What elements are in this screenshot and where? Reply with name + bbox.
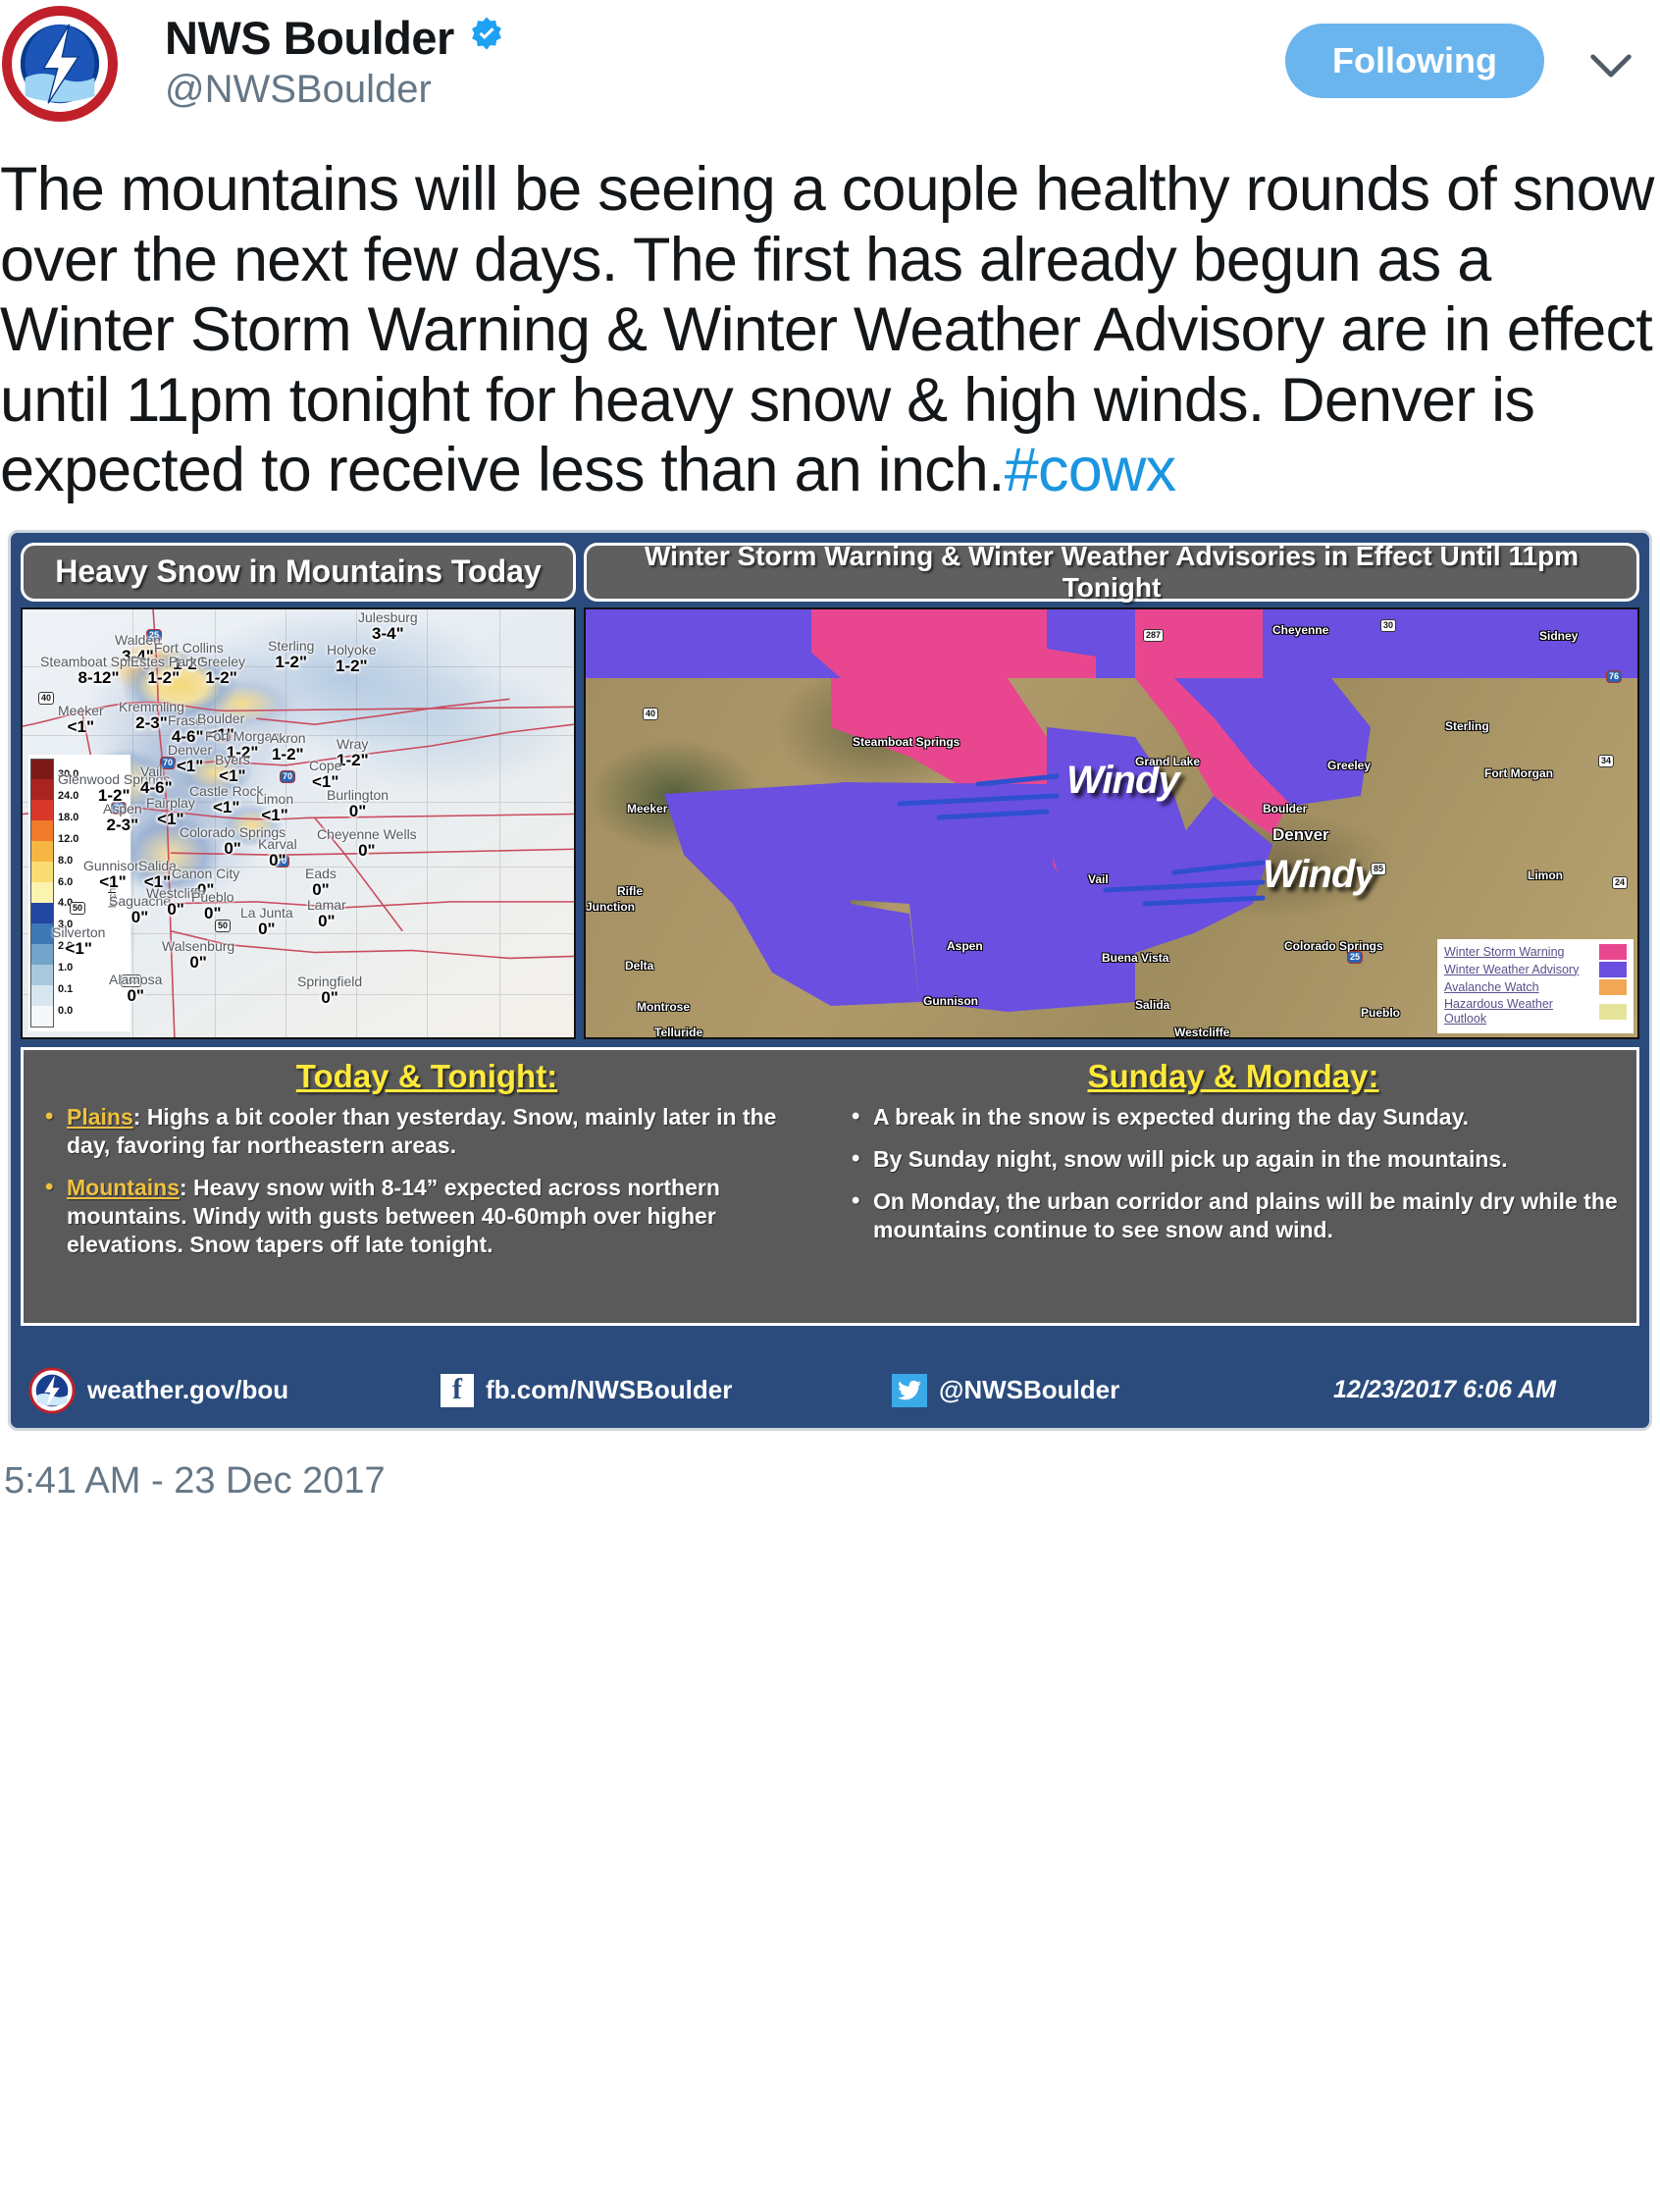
snow-city-limon: Limon <1" bbox=[256, 792, 293, 824]
warn-city-junction: Junction bbox=[586, 900, 635, 914]
warn-city-sidney: Sidney bbox=[1539, 629, 1578, 643]
snow-forecast-map[interactable]: 30.0 24.0 18.0 12.0 8.0 6.0 4.0 3.0 2.0 … bbox=[21, 607, 576, 1039]
colorbar-tick: 0.1 bbox=[58, 983, 73, 995]
snow-city-estes-park: Estes Park 1-2" bbox=[130, 655, 197, 687]
snow-city-springfield: Springfield 0" bbox=[297, 974, 362, 1007]
warn-city-grand-lake: Grand Lake bbox=[1135, 755, 1200, 768]
warn-city-gunnison: Gunnison bbox=[923, 994, 978, 1008]
footer-twitter-label: @NWSBoulder bbox=[939, 1375, 1119, 1405]
warn-city-denver: Denver bbox=[1272, 825, 1329, 845]
display-name: NWS Boulder bbox=[165, 14, 454, 64]
warn-city-pueblo: Pueblo bbox=[1361, 1006, 1400, 1020]
footer-facebook[interactable]: f fb.com/NWSBoulder bbox=[441, 1374, 892, 1407]
snow-city-eads: Eads 0" bbox=[305, 867, 337, 899]
bullet-lead: Plains bbox=[67, 1104, 133, 1130]
snow-city-silverton: Silverton <1" bbox=[52, 925, 105, 958]
snow-city-akron: Akron 1-2" bbox=[270, 731, 306, 764]
legend-row: Hazardous Weather Outlook bbox=[1444, 997, 1627, 1027]
colorbar-tick: 12.0 bbox=[58, 833, 78, 845]
warn-city-sterling: Sterling bbox=[1445, 719, 1489, 733]
legend-row: Winter Weather Advisory bbox=[1444, 962, 1627, 977]
tweet-body-text: The mountains will be seeing a couple he… bbox=[0, 155, 1654, 504]
snow-city-aspen: Aspen 2-3" bbox=[103, 802, 142, 834]
snow-city-holyoke: Holyoke 1-2" bbox=[327, 643, 377, 675]
snow-city-la-junta: La Junta 0" bbox=[240, 906, 293, 938]
warn-city-salida: Salida bbox=[1135, 998, 1169, 1012]
forecast-title-weekend: Sunday & Monday: bbox=[846, 1058, 1621, 1095]
facebook-icon: f bbox=[441, 1374, 474, 1407]
snow-city-castle-rock: Castle Rock <1" bbox=[189, 784, 263, 816]
twitter-icon bbox=[892, 1374, 927, 1407]
warn-city-limon: Limon bbox=[1528, 869, 1563, 882]
maps-row: 30.0 24.0 18.0 12.0 8.0 6.0 4.0 3.0 2.0 … bbox=[11, 607, 1649, 1039]
snow-city-denver: Denver <1" bbox=[168, 743, 212, 775]
highway-shield-25: 25 bbox=[1347, 951, 1363, 964]
highway-shield-70: 70 bbox=[280, 770, 295, 783]
nws-logo-icon bbox=[2, 6, 118, 122]
legend-swatch bbox=[1599, 944, 1627, 960]
legend-swatch bbox=[1599, 1004, 1627, 1020]
windy-annotation-south: Windy bbox=[1263, 853, 1375, 897]
infographic-footer: weather.gov/bou f fb.com/NWSBoulder @NWS… bbox=[11, 1353, 1649, 1428]
forecast-column-today: Today & Tonight: Plains: Highs a bit coo… bbox=[24, 1058, 830, 1323]
forecast-bullet: By Sunday night, snow will pick up again… bbox=[846, 1145, 1621, 1174]
forecast-text-panel: Today & Tonight: Plains: Highs a bit coo… bbox=[21, 1047, 1639, 1326]
snow-city-cope: Cope <1" bbox=[309, 759, 341, 791]
snow-city-burlington: Burlington 0" bbox=[327, 788, 389, 820]
highway-shield-24: 24 bbox=[1612, 876, 1628, 889]
colorbar-tick: 0.0 bbox=[58, 1005, 73, 1017]
warn-city-delta: Delta bbox=[625, 959, 653, 973]
colorbar-tick: 1.0 bbox=[58, 962, 73, 974]
forecast-bullet: A break in the snow is expected during t… bbox=[846, 1103, 1621, 1132]
snow-city-gunnison: Gunnison <1" bbox=[83, 859, 142, 891]
warn-city-westcliffe: Westcliffe bbox=[1174, 1026, 1229, 1039]
warn-city-boulder: Boulder bbox=[1263, 802, 1307, 816]
tweet-header: NWS Boulder @NWSBoulder Following bbox=[0, 0, 1660, 137]
footer-website-label: weather.gov/bou bbox=[87, 1375, 288, 1405]
legend-row: Avalanche Watch bbox=[1444, 979, 1627, 995]
snow-city-fairplay: Fairplay <1" bbox=[146, 796, 195, 828]
account-name-block: NWS Boulder @NWSBoulder bbox=[165, 14, 505, 111]
warn-city-buena-vista: Buena Vista bbox=[1102, 951, 1168, 965]
tweet-timestamp[interactable]: 5:41 AM - 23 Dec 2017 bbox=[0, 1431, 1660, 1502]
highway-shield-287: 287 bbox=[1143, 629, 1164, 642]
warn-city-montrose: Montrose bbox=[637, 1000, 690, 1014]
snow-city-cheyenne-wells: Cheyenne Wells 0" bbox=[317, 827, 417, 860]
highway-shield-40: 40 bbox=[643, 708, 658, 720]
warn-city-colorado-springs: Colorado Springs bbox=[1284, 939, 1383, 953]
legend-swatch bbox=[1599, 979, 1627, 995]
warn-city-meeker: Meeker bbox=[627, 802, 667, 816]
panel-title-snow: Heavy Snow in Mountains Today bbox=[21, 543, 576, 602]
colorbar-gradient-strip bbox=[30, 759, 54, 1027]
warn-city-greeley: Greeley bbox=[1327, 759, 1371, 772]
forecast-title-today: Today & Tonight: bbox=[39, 1058, 814, 1095]
snow-city-julesburg: Julesburg 3-4" bbox=[358, 610, 418, 643]
warn-city-vail: Vail bbox=[1088, 872, 1109, 886]
snow-city-alamosa: Alamosa 0" bbox=[109, 973, 162, 1005]
forecast-column-weekend: Sunday & Monday: A break in the snow is … bbox=[830, 1058, 1636, 1323]
warnings-map[interactable]: Windy Windy Cheyenne Sidney Sterling Ste… bbox=[584, 607, 1639, 1039]
footer-facebook-label: fb.com/NWSBoulder bbox=[486, 1375, 732, 1405]
highway-shield-40: 40 bbox=[38, 692, 54, 705]
warn-city-steamboat-springs: Steamboat Springs bbox=[853, 735, 960, 749]
highway-shield-34: 34 bbox=[1598, 755, 1614, 767]
verified-badge-icon bbox=[468, 15, 505, 52]
forecast-bullets-weekend: A break in the snow is expected during t… bbox=[846, 1103, 1621, 1245]
warn-city-fort-morgan: Fort Morgan bbox=[1484, 766, 1553, 780]
panel-title-warnings: Winter Storm Warning & Winter Weather Ad… bbox=[584, 543, 1639, 602]
warn-city-aspen: Aspen bbox=[947, 939, 983, 953]
bullet-lead: Mountains bbox=[67, 1175, 180, 1200]
bullet-text: : Highs a bit cooler than yesterday. Sno… bbox=[67, 1104, 776, 1158]
colorbar-tick: 18.0 bbox=[58, 812, 78, 823]
following-button[interactable]: Following bbox=[1285, 24, 1544, 98]
forecast-bullet: On Monday, the urban corridor and plains… bbox=[846, 1187, 1621, 1244]
snow-city-karval: Karval 0" bbox=[258, 837, 297, 869]
legend-label: Hazardous Weather Outlook bbox=[1444, 997, 1591, 1027]
colorbar-tick: 6.0 bbox=[58, 876, 73, 888]
weather-infographic: Heavy Snow in Mountains Today Winter Sto… bbox=[8, 530, 1652, 1431]
snow-city-sterling: Sterling 1-2" bbox=[268, 639, 314, 671]
colorbar-tick: 8.0 bbox=[58, 855, 73, 867]
warn-city-telluride: Telluride bbox=[654, 1026, 702, 1039]
forecast-bullet: Plains: Highs a bit cooler than yesterda… bbox=[39, 1103, 814, 1160]
snow-city-pueblo: Pueblo 0" bbox=[191, 890, 234, 922]
highway-shield-50: 50 bbox=[70, 902, 85, 915]
tweet-body: The mountains will be seeing a couple he… bbox=[0, 137, 1660, 524]
highway-shield-30: 30 bbox=[1380, 619, 1396, 632]
noaa-logo-icon bbox=[28, 1367, 76, 1414]
warn-city-cheyenne: Cheyenne bbox=[1272, 623, 1328, 637]
chevron-down-icon[interactable] bbox=[1589, 51, 1633, 80]
legend-label: Avalanche Watch bbox=[1444, 980, 1591, 995]
forecast-bullets-today: Plains: Highs a bit cooler than yesterda… bbox=[39, 1103, 814, 1260]
warn-city-rifle: Rifle bbox=[617, 884, 643, 898]
infographic-panel-titles: Heavy Snow in Mountains Today Winter Sto… bbox=[11, 533, 1649, 607]
tweet-hashtag-link[interactable]: #cowx bbox=[1005, 436, 1176, 504]
snow-city-byers: Byers <1" bbox=[215, 753, 250, 785]
legend-swatch bbox=[1599, 962, 1627, 977]
footer-website[interactable]: weather.gov/bou bbox=[28, 1367, 441, 1414]
snow-city-walsenburg: Walsenburg 0" bbox=[162, 939, 234, 972]
snow-city-greeley: Greeley 1-2" bbox=[197, 655, 245, 687]
footer-twitter[interactable]: @NWSBoulder bbox=[892, 1374, 1333, 1407]
legend-label: Winter Weather Advisory bbox=[1444, 963, 1591, 977]
account-handle: @NWSBoulder bbox=[165, 68, 505, 111]
warnings-legend: Winter Storm Warning Winter Weather Advi… bbox=[1437, 939, 1634, 1033]
highway-shield-76: 76 bbox=[1606, 670, 1622, 683]
snow-city-meeker: Meeker <1" bbox=[58, 704, 104, 736]
highway-shield-85: 85 bbox=[1371, 863, 1386, 875]
snow-city-lamar: Lamar 0" bbox=[307, 898, 346, 930]
legend-label: Winter Storm Warning bbox=[1444, 945, 1591, 960]
avatar[interactable] bbox=[2, 6, 118, 122]
footer-timestamp: 12/23/2017 6:06 AM bbox=[1333, 1376, 1556, 1404]
legend-row: Winter Storm Warning bbox=[1444, 944, 1627, 960]
forecast-bullet: Mountains: Heavy snow with 8-14” expecte… bbox=[39, 1174, 814, 1260]
